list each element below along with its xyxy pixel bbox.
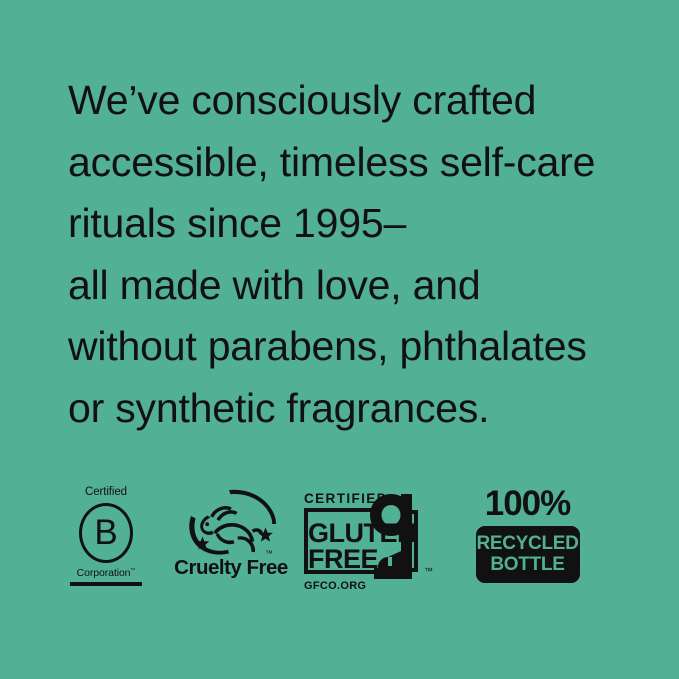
- statement-line-5: without parabens, phthalates: [68, 316, 668, 378]
- statement-line-6: or synthetic fragrances.: [68, 378, 668, 440]
- bcorp-underline-rule: [70, 582, 142, 586]
- certified-gluten-free-badge: CERTIFIED GLUTEN FREE: [302, 486, 442, 592]
- promo-banner: We’ve consciously crafted accessible, ti…: [0, 0, 679, 679]
- statement-line-2: accessible, timeless self-care: [68, 132, 668, 194]
- statement-line-4: all made with love, and: [68, 255, 668, 317]
- bcorp-circle-icon: B: [79, 503, 133, 563]
- bcorp-letter-b: B: [94, 515, 117, 550]
- cruelty-free-label: Cruelty Free: [174, 556, 288, 580]
- recycled-percent-label: 100%: [485, 486, 571, 522]
- bottle-word-label: BOTTLE: [490, 554, 564, 575]
- gfco-url-label: GFCO.ORG: [304, 580, 366, 592]
- certified-b-corporation-badge: Certified B Corporation™: [68, 486, 144, 592]
- statement-line-3: rituals since 1995–: [68, 193, 668, 255]
- certification-badge-row: Certified B Corporation™: [0, 486, 679, 596]
- bcorp-corporation-text: Corporation: [77, 567, 131, 579]
- brand-statement: We’ve consciously crafted accessible, ti…: [68, 70, 668, 439]
- gluten-free-icon: CERTIFIED GLUTEN FREE: [302, 486, 442, 592]
- cruelty-free-badge: ™ Cruelty Free: [170, 486, 292, 592]
- gluten-trademark-icon: ™: [424, 566, 433, 576]
- bcorp-certified-label: Certified: [85, 486, 127, 499]
- recycled-label-box: RECYCLED BOTTLE: [476, 526, 580, 583]
- recycled-bottle-badge: 100% RECYCLED BOTTLE: [470, 486, 585, 592]
- bcorp-trademark-icon: ™: [130, 568, 135, 574]
- statement-line-1: We’ve consciously crafted: [68, 70, 668, 132]
- recycled-word-label: RECYCLED: [476, 533, 578, 554]
- free-word-label: FREE: [308, 544, 378, 574]
- bcorp-corporation-label: Corporation™: [77, 567, 136, 579]
- leaping-bunny-icon: ™: [177, 486, 285, 558]
